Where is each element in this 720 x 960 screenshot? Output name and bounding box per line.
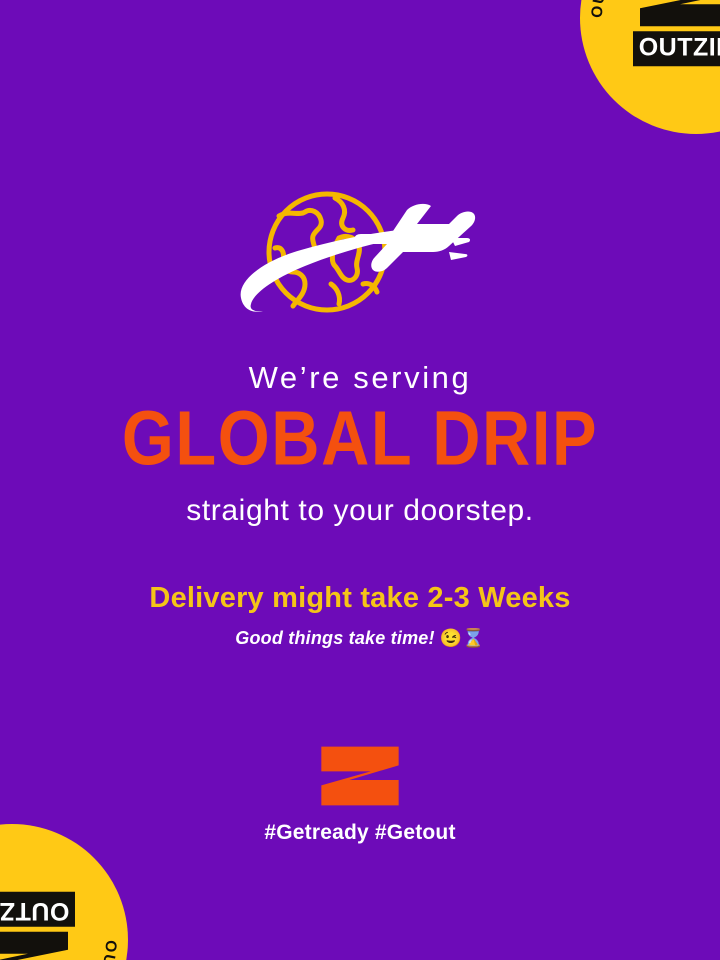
z-logo-icon [0, 930, 72, 960]
tagline-text: Good things take time! 😉⌛ [0, 628, 720, 650]
z-logo-icon [636, 0, 720, 28]
globe-airplane-icon [235, 176, 485, 338]
badge-center-word: OUTZIDR [0, 892, 75, 927]
brand-badge-bottom-left: OUTZIDR · OUTZIDR · OUTZIDR · OUTZIDR · … [0, 824, 128, 960]
badge-core-top-right: OUTZIDR [630, 0, 720, 66]
headline-text: GLOBAL DRIP [0, 401, 720, 478]
hashtags-text: #Getready #Getout [264, 821, 455, 845]
tagline-words: Good things take time! [235, 628, 434, 648]
delivery-notice-text: Delivery might take 2-3 Weeks [0, 581, 720, 616]
copy-block: We’re serving GLOBAL DRIP straight to yo… [0, 360, 720, 650]
hero-icon-wrap [0, 176, 720, 338]
subline-text: straight to your doorstep. [0, 493, 720, 529]
eyebrow-text: We’re serving [0, 360, 720, 396]
tagline-emoji: 😉⌛ [440, 628, 485, 648]
badge-core-bottom-left: OUTZIDR [0, 892, 78, 960]
brand-badge-top-right: OUTZIDR · OUTZIDR · OUTZIDR · OUTZIDR · … [580, 0, 720, 134]
poster-canvas: OUTZIDR · OUTZIDR · OUTZIDR · OUTZIDR · … [0, 0, 720, 960]
z-logo-icon [320, 745, 400, 807]
badge-center-word: OUTZIDR [633, 31, 720, 66]
